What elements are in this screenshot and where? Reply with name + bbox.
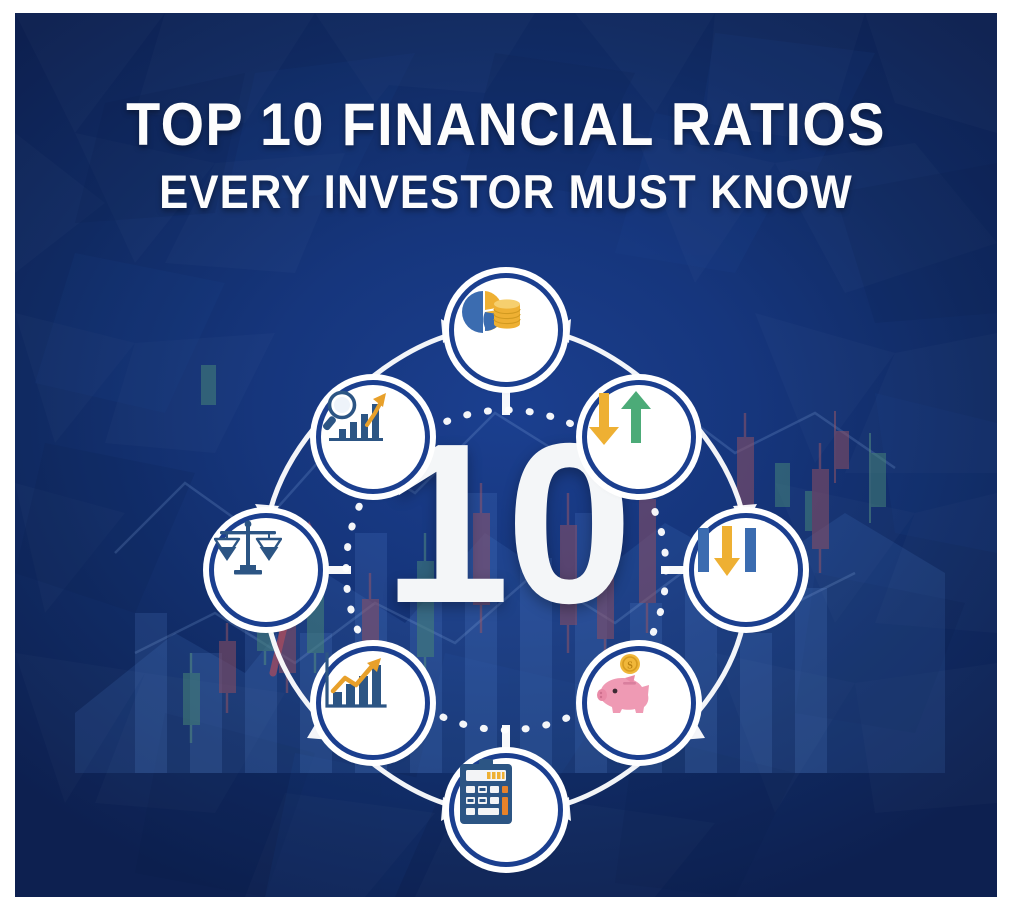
node-piggy-bank[interactable]: S [587, 651, 691, 755]
title-block: TOP 10 FINANCIAL RATIOS EVERY INVESTOR M… [15, 95, 997, 215]
balance-scale-icon [214, 518, 282, 580]
magnifier-chart-icon [321, 385, 391, 447]
ratio-wheel: 10 [211, 275, 801, 865]
bars-down-arrow-icon [694, 518, 760, 584]
node-bars-down-arrow[interactable] [694, 518, 798, 622]
infographic-canvas: TOP 10 FINANCIAL RATIOS EVERY INVESTOR M… [15, 13, 997, 897]
node-growth-chart[interactable] [321, 651, 425, 755]
page-title: TOP 10 FINANCIAL RATIOS [49, 95, 962, 155]
svg-text:S: S [627, 661, 633, 672]
node-balance-scale[interactable] [214, 518, 318, 622]
node-arrows-down-up[interactable] [587, 385, 691, 489]
node-pie-chart-coins[interactable] [454, 278, 558, 382]
growth-chart-icon [321, 651, 389, 713]
arrows-down-up-icon [587, 385, 653, 451]
node-calculator[interactable] [454, 758, 558, 862]
page-subtitle: EVERY INVESTOR MUST KNOW [49, 168, 962, 215]
calculator-icon [454, 758, 518, 826]
piggy-bank-icon: S [587, 651, 657, 721]
node-analysis-magnifier[interactable] [321, 385, 425, 489]
pie-chart-coins-icon [454, 278, 524, 348]
